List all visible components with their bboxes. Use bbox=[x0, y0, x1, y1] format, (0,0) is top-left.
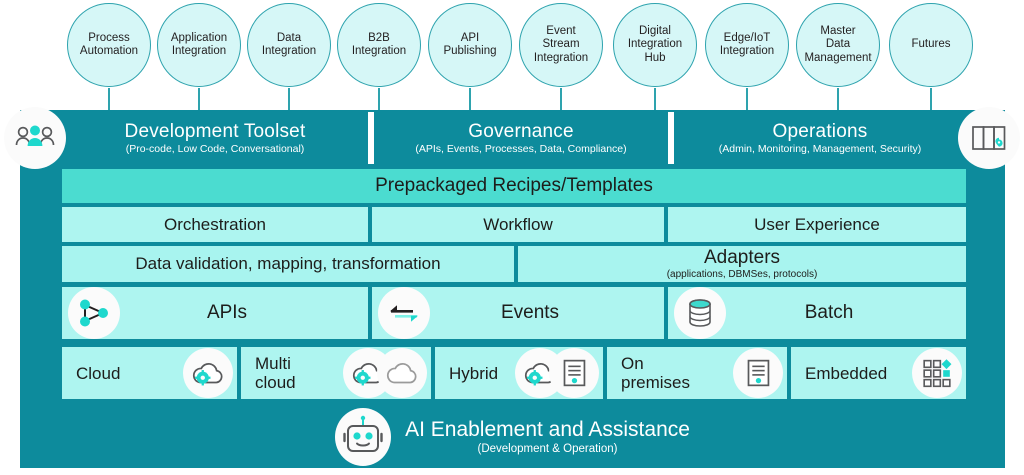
capability-circles-row: ProcessAutomationApplicationIntegrationD… bbox=[0, 0, 1024, 112]
header-panel-subtitle: (APIs, Events, Processes, Data, Complian… bbox=[415, 143, 626, 156]
capability-circle-shape: MasterDataManagement bbox=[796, 3, 880, 87]
channel-label: Events bbox=[430, 302, 664, 324]
capability-circle[interactable]: Futures bbox=[888, 2, 974, 88]
capability-connector bbox=[837, 88, 839, 112]
service-cell[interactable]: Workflow bbox=[372, 207, 664, 242]
deployment-icon-group bbox=[183, 348, 233, 398]
cloud-gear-icon bbox=[183, 348, 233, 398]
channel-label: APIs bbox=[120, 302, 368, 324]
capability-label: DigitalIntegrationHub bbox=[624, 25, 686, 66]
map-pin-icon bbox=[962, 111, 1016, 165]
header-panel-title: Governance bbox=[468, 121, 574, 143]
grid-squares-icon bbox=[912, 348, 962, 398]
prepackaged-recipes-strip: Prepackaged Recipes/Templates bbox=[62, 169, 966, 203]
capability-connector bbox=[560, 88, 562, 112]
capability-label: MasterDataManagement bbox=[800, 25, 875, 66]
database-icon bbox=[674, 287, 726, 339]
capability-connector bbox=[378, 88, 380, 112]
deployment-label: Cloud bbox=[76, 364, 120, 383]
deployment-label: Multicloud bbox=[255, 354, 296, 392]
capability-label: ProcessAutomation bbox=[76, 32, 142, 59]
capability-circle-shape: Edge/IoTIntegration bbox=[705, 3, 789, 87]
service-label: Workflow bbox=[483, 215, 553, 235]
channel-cell[interactable]: APIs bbox=[62, 287, 368, 339]
capability-circle[interactable]: EventStreamIntegration bbox=[518, 2, 604, 88]
deployment-cell[interactable]: Onpremises bbox=[607, 347, 787, 399]
data-layer-label: Adapters bbox=[704, 247, 780, 269]
prepackaged-recipes-label: Prepackaged Recipes/Templates bbox=[375, 175, 653, 197]
capability-label: Edge/IoTIntegration bbox=[716, 32, 778, 59]
data-layer-sublabel: (applications, DBMSes, protocols) bbox=[667, 269, 818, 281]
data-layer-cell[interactable]: Data validation, mapping, transformation bbox=[62, 246, 514, 282]
capability-label: B2BIntegration bbox=[348, 32, 410, 59]
capability-label: EventStreamIntegration bbox=[530, 25, 592, 66]
capability-circle[interactable]: ProcessAutomation bbox=[66, 2, 152, 88]
deployment-cell[interactable]: Hybrid bbox=[435, 347, 603, 399]
capability-circle[interactable]: MasterDataManagement bbox=[795, 2, 881, 88]
capability-connector bbox=[108, 88, 110, 112]
capability-connector bbox=[654, 88, 656, 112]
capability-label: ApplicationIntegration bbox=[167, 32, 231, 59]
capability-circle[interactable]: APIPublishing bbox=[427, 2, 513, 88]
deployment-icon-group bbox=[912, 348, 962, 398]
capability-circle[interactable]: B2BIntegration bbox=[336, 2, 422, 88]
channel-cell[interactable]: Batch bbox=[668, 287, 966, 339]
capability-connector bbox=[930, 88, 932, 112]
server-doc-icon bbox=[733, 348, 783, 398]
capability-label: DataIntegration bbox=[258, 32, 320, 59]
robot-icon bbox=[335, 408, 391, 466]
deployment-label: Onpremises bbox=[621, 354, 690, 392]
header-panel[interactable]: Governance(APIs, Events, Processes, Data… bbox=[374, 112, 668, 164]
capability-circle-shape: DigitalIntegrationHub bbox=[613, 3, 697, 87]
capability-circle-shape: APIPublishing bbox=[428, 3, 512, 87]
ai-enablement-band: AI Enablement and Assistance (Developmen… bbox=[20, 406, 1005, 468]
capability-connector bbox=[746, 88, 748, 112]
deployment-icon-group bbox=[515, 348, 599, 398]
channel-label: Batch bbox=[726, 302, 966, 324]
capability-label: APIPublishing bbox=[439, 32, 500, 59]
deployment-icon-group bbox=[343, 348, 427, 398]
ai-subtitle: (Development & Operation) bbox=[405, 442, 690, 456]
header-panel-title: Development Toolset bbox=[125, 121, 306, 143]
ai-title: AI Enablement and Assistance bbox=[405, 418, 690, 442]
deployment-icon-group bbox=[733, 348, 783, 398]
deployment-cell[interactable]: Embedded bbox=[791, 347, 966, 399]
deployment-cell[interactable]: Cloud bbox=[62, 347, 237, 399]
header-panel-title: Operations bbox=[773, 121, 868, 143]
capability-circle[interactable]: DataIntegration bbox=[246, 2, 332, 88]
service-cell[interactable]: User Experience bbox=[668, 207, 966, 242]
service-cell[interactable]: Orchestration bbox=[62, 207, 368, 242]
cloud-icon bbox=[377, 348, 427, 398]
deployment-cell[interactable]: Multicloud bbox=[241, 347, 431, 399]
capability-connector bbox=[288, 88, 290, 112]
header-panel[interactable]: Operations(Admin, Monitoring, Management… bbox=[674, 112, 966, 164]
capability-circle-shape: B2BIntegration bbox=[337, 3, 421, 87]
header-panel-subtitle: (Admin, Monitoring, Management, Security… bbox=[719, 143, 922, 156]
server-doc-icon bbox=[549, 348, 599, 398]
capability-circle[interactable]: ApplicationIntegration bbox=[156, 2, 242, 88]
data-layer-label: Data validation, mapping, transformation bbox=[135, 254, 440, 274]
header-panel[interactable]: Development Toolset(Pro-code, Low Code, … bbox=[62, 112, 368, 164]
capability-circle[interactable]: DigitalIntegrationHub bbox=[612, 2, 698, 88]
deployment-label: Hybrid bbox=[449, 364, 498, 383]
capability-circle-shape: ProcessAutomation bbox=[67, 3, 151, 87]
channel-cell[interactable]: Events bbox=[372, 287, 664, 339]
data-layer-cell[interactable]: Adapters(applications, DBMSes, protocols… bbox=[518, 246, 966, 282]
capability-circle-shape: Futures bbox=[889, 3, 973, 87]
service-label: User Experience bbox=[754, 215, 880, 235]
capability-label: Futures bbox=[908, 38, 955, 52]
deployment-label: Embedded bbox=[805, 364, 887, 383]
header-panel-subtitle: (Pro-code, Low Code, Conversational) bbox=[126, 143, 305, 156]
capability-circle-shape: ApplicationIntegration bbox=[157, 3, 241, 87]
header-panel-divider bbox=[368, 112, 374, 164]
capability-circle[interactable]: Edge/IoTIntegration bbox=[704, 2, 790, 88]
capability-connector bbox=[469, 88, 471, 112]
capability-circle-shape: EventStreamIntegration bbox=[519, 3, 603, 87]
people-group-icon bbox=[8, 111, 62, 165]
api-graph-icon bbox=[68, 287, 120, 339]
header-panel-divider bbox=[668, 112, 674, 164]
capability-circle-shape: DataIntegration bbox=[247, 3, 331, 87]
capability-connector bbox=[198, 88, 200, 112]
service-label: Orchestration bbox=[164, 215, 266, 235]
exchange-arrows-icon bbox=[378, 287, 430, 339]
